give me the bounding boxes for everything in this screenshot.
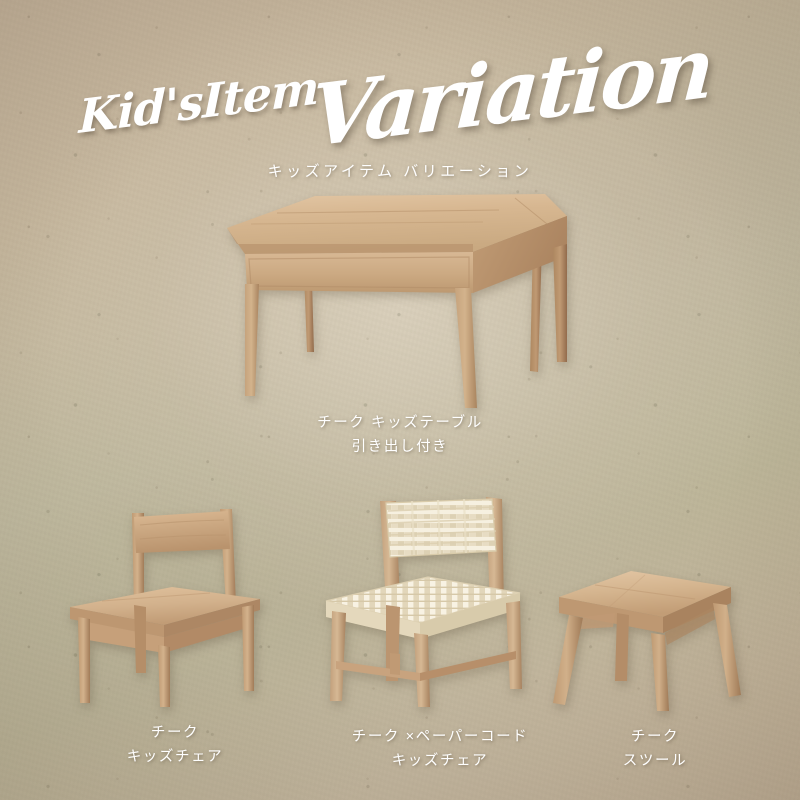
caption-line-2: スツール <box>555 750 755 774</box>
product-image-teak-papercord-kids-chair <box>320 483 560 713</box>
stool-leg-back-right <box>713 603 741 697</box>
caption-teak-papercord-kids-chair: チーク ×ペーパーコード キッズチェア <box>300 726 580 774</box>
caption-line-2: キッズチェア <box>60 746 290 770</box>
caption-line-1: チーク <box>631 729 679 745</box>
poster-canvas: Kid'sItem Variation キッズアイテム バリエーション <box>0 0 800 800</box>
stool-leg-back-center <box>615 613 629 681</box>
stool-leg-front-center <box>651 633 669 711</box>
chair-b-stretcher-left <box>336 661 420 681</box>
subtitle-japanese: キッズアイテム バリエーション <box>0 160 800 181</box>
product-image-teak-kids-chair <box>60 495 290 710</box>
caption-line-1: チーク <box>151 725 199 741</box>
chair-b-leg-back-right <box>506 601 522 689</box>
caption-teak-stool: チーク スツール <box>555 726 755 774</box>
caption-line-1: チーク ×ペーパーコード <box>352 729 529 745</box>
caption-teak-kids-table: チーク キッズテーブル 引き出し付き <box>230 412 570 460</box>
chair-a-leg-front-left <box>78 617 90 703</box>
caption-line-2: キッズチェア <box>300 750 580 774</box>
product-image-teak-stool <box>545 555 755 715</box>
chair-b-leg-front-left <box>330 611 346 701</box>
table-leg-side-right <box>553 244 567 362</box>
caption-teak-kids-chair: チーク キッズチェア <box>60 722 290 770</box>
chair-a-leg-front-center <box>158 645 170 707</box>
caption-line-2: 引き出し付き <box>230 436 570 460</box>
wooden-kids-chair-icon <box>60 495 290 710</box>
product-image-teak-kids-table <box>215 180 585 410</box>
chair-a-leg-back-left <box>134 605 146 673</box>
table-leg-front-right <box>455 288 477 408</box>
poster-header: Kid'sItem Variation キッズアイテム バリエーション <box>0 0 800 181</box>
title-script-primary: Kid'sItem <box>78 60 318 144</box>
chair-b-stretcher-post <box>390 653 400 675</box>
wooden-stool-icon <box>545 555 755 715</box>
caption-line-1: チーク キッズテーブル <box>317 415 483 431</box>
table-leg-front-left <box>245 284 259 396</box>
stool-leg-front-left <box>553 615 583 705</box>
chair-a-leg-back-right <box>242 605 254 691</box>
wooden-kids-table-with-drawer-icon <box>215 180 585 410</box>
title-script-secondary: Variation <box>307 16 714 166</box>
chair-a-backrest <box>134 511 230 553</box>
title-group: Kid'sItem Variation <box>0 36 800 156</box>
wooden-kids-chair-paper-cord-icon <box>320 483 560 713</box>
chair-b-leg-front-center <box>414 633 430 707</box>
chair-b-stretcher-right <box>420 651 516 681</box>
